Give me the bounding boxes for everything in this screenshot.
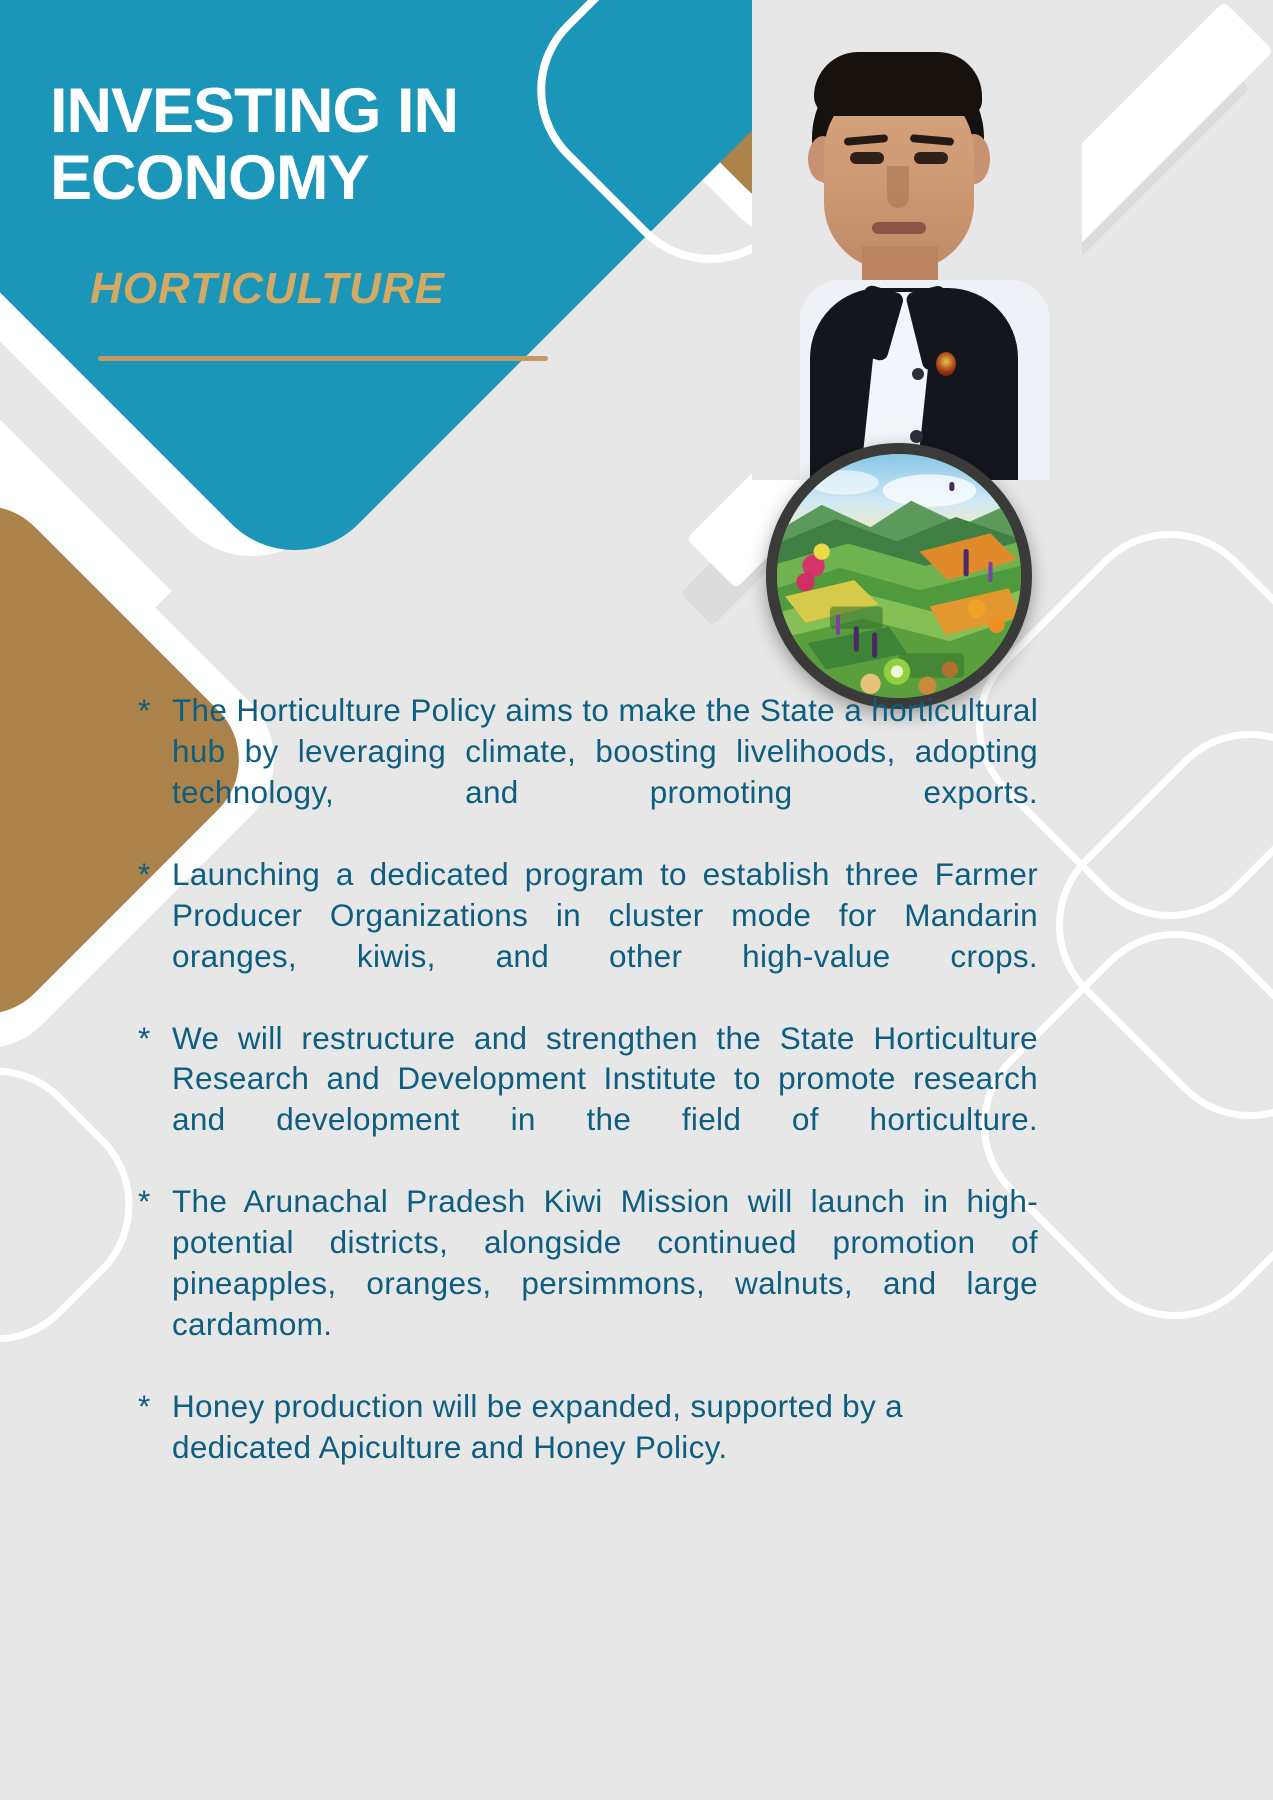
page-title: INVESTING IN ECONOMY xyxy=(50,78,690,212)
bullet-marker: * xyxy=(138,1018,172,1182)
horticulture-circle-image xyxy=(766,443,1032,709)
bullet-text: The Horticulture Policy aims to make the… xyxy=(172,690,1038,854)
list-item: * Honey production will be expanded, sup… xyxy=(138,1386,1038,1468)
bullet-marker: * xyxy=(138,690,172,854)
horticulture-landscape-icon xyxy=(777,454,1021,698)
portrait-eye-left xyxy=(850,152,884,164)
list-item: * Launching a dedicated program to estab… xyxy=(138,854,1038,1018)
list-item: * The Horticulture Policy aims to make t… xyxy=(138,690,1038,854)
page-title-line-1: INVESTING IN xyxy=(50,78,690,145)
portrait-mouth xyxy=(872,222,926,234)
portrait-button-2 xyxy=(910,430,923,443)
portrait-button-1 xyxy=(912,368,924,380)
gold-divider xyxy=(98,356,548,361)
list-item: * We will restructure and strengthen the… xyxy=(138,1018,1038,1182)
official-portrait xyxy=(752,0,1082,480)
white-outline-right-2 xyxy=(1017,692,1273,1159)
bullet-text: Honey production will be expanded, suppo… xyxy=(172,1386,1038,1468)
bullet-marker: * xyxy=(138,1386,172,1468)
page-subtitle: HORTICULTURE xyxy=(90,264,690,314)
portrait-lapel-badge-icon xyxy=(936,352,956,376)
bullet-text: Launching a dedicated program to establi… xyxy=(172,854,1038,1018)
header-block: INVESTING IN ECONOMY HORTICULTURE xyxy=(50,78,690,361)
bullet-text: We will restructure and strengthen the S… xyxy=(172,1018,1038,1182)
portrait-fringe xyxy=(814,52,982,116)
portrait-eye-right xyxy=(914,152,948,164)
bullet-marker: * xyxy=(138,1181,172,1386)
policy-bullet-list: * The Horticulture Policy aims to make t… xyxy=(138,690,1038,1468)
bullet-text: The Arunachal Pradesh Kiwi Mission will … xyxy=(172,1181,1038,1386)
bullet-marker: * xyxy=(138,854,172,1018)
portrait-nose xyxy=(887,166,909,208)
poster-canvas: INVESTING IN ECONOMY HORTICULTURE xyxy=(0,0,1273,1800)
page-title-line-2: ECONOMY xyxy=(50,145,690,212)
list-item: * The Arunachal Pradesh Kiwi Mission wil… xyxy=(138,1181,1038,1386)
